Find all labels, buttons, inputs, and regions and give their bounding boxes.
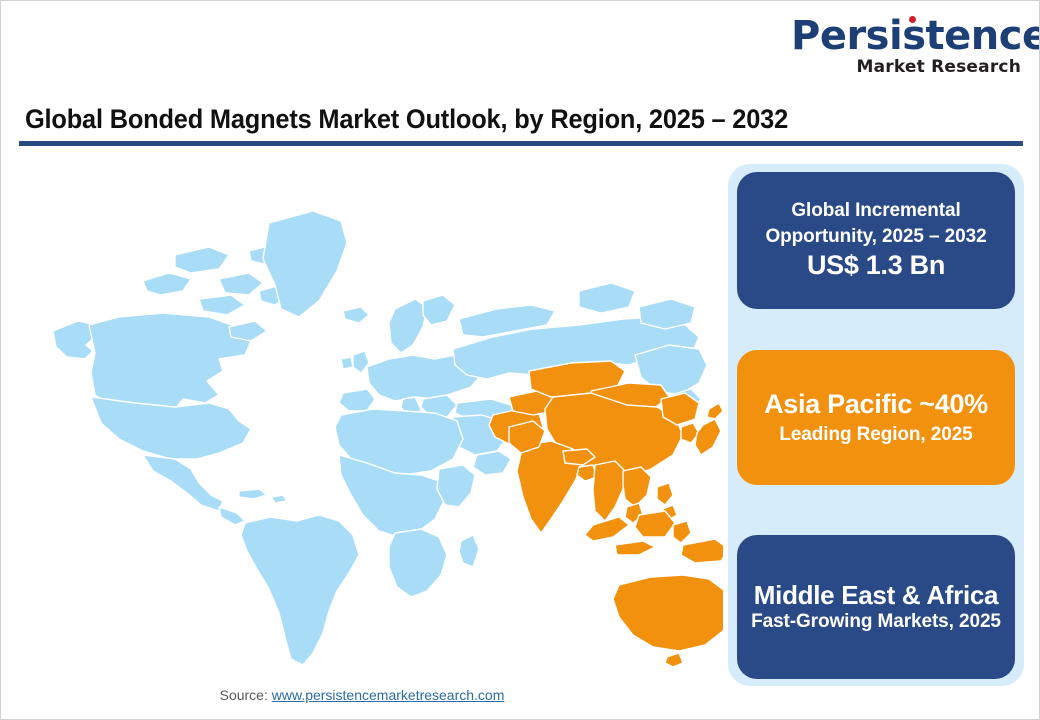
source-prefix-label: Source: (220, 687, 268, 703)
logo-brand-text: Persistence (791, 15, 1021, 57)
logo-registration-dot-icon (909, 16, 916, 23)
title-underline-rule (19, 141, 1023, 146)
stat-card-value: Middle East & Africa (754, 580, 998, 611)
stat-card-label: Leading Region, 2025 (779, 422, 972, 448)
world-map (23, 159, 723, 671)
stat-card-global-incremental-opportunity[interactable]: Global Incremental Opportunity, 2025 – 2… (737, 172, 1015, 309)
stat-card-panel: Global Incremental Opportunity, 2025 – 2… (728, 164, 1024, 686)
map-highlight-asia-pacific (489, 361, 723, 667)
stat-card-label: Fast-Growing Markets, 2025 (751, 610, 1001, 634)
logo-tagline: Market Research (791, 57, 1021, 77)
stat-card-leading-region[interactable]: Asia Pacific ~40% Leading Region, 2025 (737, 350, 1015, 485)
source-link[interactable]: www.persistencemarketresearch.com (272, 687, 505, 703)
infographic-page: Persistence Market Research Global Bonde… (0, 0, 1040, 720)
world-map-svg (23, 159, 723, 671)
company-logo: Persistence Market Research (791, 15, 1021, 77)
stat-card-label: Global Incremental Opportunity, 2025 – 2… (751, 198, 1001, 249)
page-title: Global Bonded Magnets Market Outlook, by… (25, 104, 788, 135)
stat-card-value: US$ 1.3 Bn (807, 249, 945, 283)
source-line: Source: www.persistencemarketresearch.co… (1, 687, 723, 703)
stat-card-value: Asia Pacific ~40% (764, 388, 988, 422)
stat-card-fast-growing-markets[interactable]: Middle East & Africa Fast-Growing Market… (737, 535, 1015, 679)
